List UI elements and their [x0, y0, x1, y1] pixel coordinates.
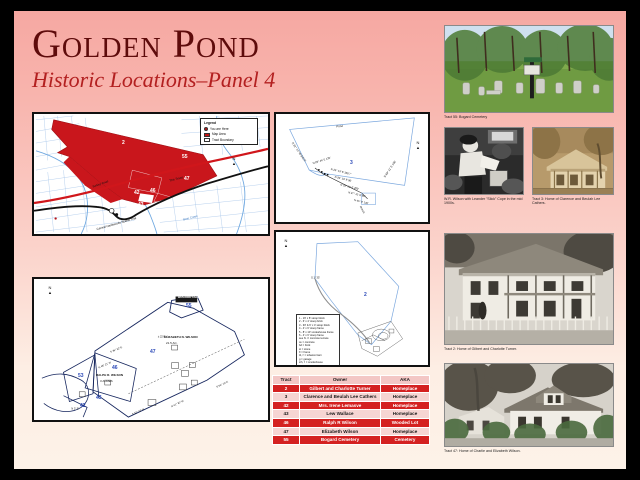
- cell-aka: Cemetery: [381, 436, 430, 445]
- legend-label-1: Map Area: [212, 132, 226, 136]
- svg-text:S 1° 35': S 1° 35': [311, 277, 320, 280]
- table-row[interactable]: 55 Bogard Cemetery Cemetery: [273, 436, 430, 445]
- legend-row-tract-boundary: Tract Boundary: [204, 138, 254, 142]
- cell-aka: Homeplace: [381, 393, 430, 402]
- photo-caption: Tract 47: Home of Charlie and Elizabeth …: [444, 449, 614, 453]
- owner-label-ralph-wilson: RALPH R. WILSON: [96, 373, 123, 377]
- table-row[interactable]: 2 Gilbert and Charlotte Turner Homeplace: [273, 384, 430, 393]
- cell-tract: 47: [273, 427, 300, 436]
- photo-wilson-home[interactable]: Tract 47: Home of Charlie and Elizabeth …: [444, 363, 614, 453]
- photo-cathers-home[interactable]: Tract 3: Home of Clarence and Beulah Lee…: [532, 127, 614, 205]
- plat-tract-number: 3: [350, 160, 353, 166]
- tract-number-55: 55: [182, 154, 188, 160]
- cell-aka: Homeplace: [381, 401, 430, 410]
- map-area-swatch-icon: [204, 133, 210, 137]
- cell-owner: Ralph R Wilson: [300, 418, 381, 427]
- table-row[interactable]: 42 Mrs. Irene Lemasve Homeplace: [273, 401, 430, 410]
- page-subtitle: Historic Locations–Panel 4: [32, 67, 432, 93]
- overview-map-legend: Legend You are Here Map Area Tract Bound…: [200, 118, 258, 145]
- table-header-row: Tract Owner AKA: [273, 376, 430, 385]
- plat-map-wilson-tracts[interactable]: ± 22 P.H. S 36° 22' E N 48° 21' W S 54° …: [32, 277, 270, 422]
- tract-number-42: 42: [134, 190, 140, 196]
- photo-bogard-cemetery[interactable]: Tract 55: Bogard Cemetery: [444, 25, 614, 119]
- tract-number-2: 2: [122, 140, 125, 146]
- plat-map-tract-2[interactable]: S 1° 35' 2 N▲ 1 - 16' x 8' stoop block 2…: [274, 230, 430, 367]
- svg-text:N 2° E: N 2° E: [71, 407, 79, 410]
- cell-tract: 55: [273, 436, 300, 445]
- area-note-ralph: 3 ACRES: [100, 379, 113, 383]
- tract-number-55: 55: [186, 303, 192, 309]
- photo-image: [444, 25, 614, 113]
- label-bogard-cemetery: BOGARD CEM.: [178, 295, 200, 299]
- table-row[interactable]: 46 Ralph R Wilson Wooded Lot: [273, 418, 430, 427]
- photo-caption: Tract 3: Home of Clarence and Beulah Lee…: [532, 197, 614, 206]
- table-row[interactable]: 43 Lew Wallace Homeplace: [273, 410, 430, 419]
- cell-tract: 2: [273, 384, 300, 393]
- owner-label-elizabeth-wilson: ELIZABETH N. WILSON: [164, 335, 198, 339]
- tract-boundary-swatch-icon: [204, 138, 210, 142]
- column-header-aka: AKA: [381, 376, 430, 385]
- plat-map-tract-3[interactable]: N 81° 14' W 540.0' Pond S 68° 11' E 190'…: [274, 112, 430, 224]
- photo-image: [444, 363, 614, 447]
- tract-number-47: 47: [150, 349, 156, 355]
- photo-caption: Tract 55: Bogard Cemetery: [444, 115, 614, 119]
- tract-owner-table[interactable]: Tract Owner AKA 2 Gilbert and Charlotte …: [272, 375, 430, 445]
- plat-tract-number: 2: [364, 292, 367, 298]
- area-note-elizabeth: 21.5 AC.: [166, 341, 178, 345]
- you-are-here-dot-icon: [204, 127, 208, 131]
- tract-number-43: 43: [138, 202, 144, 208]
- tract-number-47: 47: [184, 176, 190, 182]
- photo-wr-wilson-slick-cope[interactable]: W.R. Wilson with Leander "Slick" Cope in…: [444, 127, 524, 205]
- cell-tract: 46: [273, 418, 300, 427]
- cell-aka: Homeplace: [381, 384, 430, 393]
- cell-owner: Mrs. Irene Lemasve: [300, 401, 381, 410]
- cell-owner: Clarence and Beulah Lee Cathers: [300, 393, 381, 402]
- cell-owner: Lew Wallace: [300, 410, 381, 419]
- legend-label-0: You are Here: [210, 127, 229, 131]
- legend-line-13: s/h, t' = smokehouse: [299, 361, 337, 364]
- photo-image: [444, 127, 524, 195]
- plat-tract3-graphic: N 81° 14' W 540.0' Pond S 68° 11' E 190'…: [276, 114, 428, 222]
- legend-row-map-area: Map Area: [204, 132, 254, 136]
- svg-text:Pond: Pond: [336, 124, 343, 129]
- overview-locator-map[interactable]: The Trace Central Hardwoods Scenic Trail…: [32, 112, 270, 236]
- photo-caption: W.R. Wilson with Leander "Slick" Cope in…: [444, 197, 524, 206]
- table-row[interactable]: 47 Elizabeth Wilson Homeplace: [273, 427, 430, 436]
- legend-title: Legend: [204, 121, 254, 125]
- north-arrow-icon: N▲: [284, 238, 288, 248]
- cell-tract: 42: [273, 401, 300, 410]
- cell-owner: Elizabeth Wilson: [300, 427, 381, 436]
- cell-tract: 3: [273, 393, 300, 402]
- photo-caption: Tract 2: Home of Gilbert and Charlotte T…: [444, 347, 614, 351]
- photo-image: [444, 233, 614, 345]
- plat-tract2-legend: 1 - 16' x 8' stoop block 2 - 6' x 4' sto…: [296, 314, 340, 367]
- column-header-owner: Owner: [300, 376, 381, 385]
- photo-image: [532, 127, 614, 195]
- photo-turner-home[interactable]: Tract 2: Home of Gilbert and Charlotte T…: [444, 233, 614, 351]
- tract-number-46: 46: [112, 365, 118, 371]
- poster-canvas: Golden Pond Historic Locations–Panel 4: [14, 11, 626, 469]
- tract-number-46: 46: [150, 188, 156, 194]
- page-title: Golden Pond: [32, 23, 432, 65]
- cell-owner: Gilbert and Charlotte Turner: [300, 384, 381, 393]
- table-row[interactable]: 3 Clarence and Beulah Lee Cathers Homepl…: [273, 393, 430, 402]
- cell-aka: Homeplace: [381, 410, 430, 419]
- legend-row-you-are-here: You are Here: [204, 127, 254, 131]
- cell-aka: Homeplace: [381, 427, 430, 436]
- tract-number-43: 43: [96, 395, 102, 401]
- north-arrow-icon: N▲: [48, 285, 52, 295]
- cell-aka: Wooded Lot: [381, 418, 430, 427]
- north-arrow-icon: N▲: [416, 140, 420, 150]
- column-header-tract: Tract: [273, 376, 300, 385]
- tract-number-3: 3: [48, 120, 51, 126]
- tract-number-53: 53: [78, 373, 84, 379]
- cell-tract: 43: [273, 410, 300, 419]
- north-arrow-icon: N▲: [232, 156, 236, 166]
- legend-label-2: Tract Boundary: [212, 138, 234, 142]
- cell-owner: Bogard Cemetery: [300, 436, 381, 445]
- title-block: Golden Pond Historic Locations–Panel 4: [32, 23, 432, 93]
- tract-number-42: 42: [80, 403, 86, 409]
